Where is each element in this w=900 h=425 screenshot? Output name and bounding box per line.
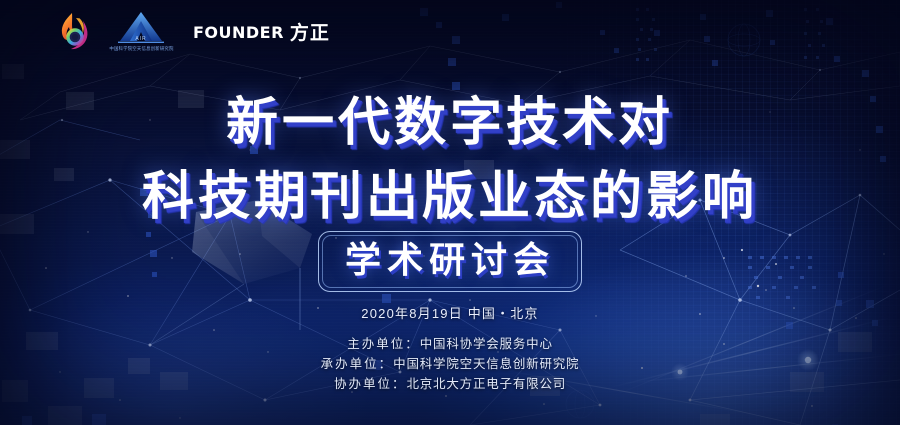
- organizer-undertaker-name: 中国科学院空天信息创新研究院: [393, 357, 579, 371]
- organizer-coorganizer-label: 协办单位：: [334, 377, 407, 391]
- organizer-coorganizer: 协办单位：北京北大方正电子有限公司: [334, 375, 566, 393]
- poster-title: 新一代数字技术对 科技期刊出版业态的影响: [0, 86, 900, 234]
- air-logo-caption: 中国科学院空天信息创新研究院: [109, 46, 173, 52]
- founder-logo-cn: 方正: [290, 18, 330, 45]
- organizer-undertaker: 承办单位：中国科学院空天信息创新研究院: [321, 355, 580, 373]
- logo-bar: AIR 中国科学院空天信息创新研究院 FOUNDER 方正: [52, 9, 330, 53]
- subtitle-badge-label: 学术研讨会: [345, 237, 555, 283]
- svg-text:AIR: AIR: [136, 36, 147, 42]
- subtitle-badge: 学术研讨会: [318, 231, 582, 292]
- air-cas-logo-icon: AIR 中国科学院空天信息创新研究院: [110, 10, 173, 52]
- founder-logo: FOUNDER 方正: [193, 18, 330, 45]
- organizer-host: 主办单位：中国科协学会服务中心: [347, 335, 553, 353]
- date-location: 2020年8月19日 中国・北京: [0, 303, 900, 322]
- poster-banner: AIR 中国科学院空天信息创新研究院 FOUNDER 方正 新一代数字技术对 科…: [0, 0, 900, 425]
- organizer-undertaker-label: 承办单位：: [321, 357, 394, 371]
- cast-flame-logo-icon: [52, 9, 96, 53]
- poster-title-line2: 科技期刊出版业态的影响: [0, 160, 900, 234]
- poster-title-line1: 新一代数字技术对: [0, 86, 900, 160]
- organizer-coorganizer-name: 北京北大方正电子有限公司: [406, 377, 566, 391]
- organizer-host-label: 主办单位：: [347, 337, 420, 351]
- subtitle-badge-wrap: 学术研讨会: [0, 231, 900, 292]
- founder-logo-en: FOUNDER: [193, 18, 284, 44]
- organizer-host-name: 中国科协学会服务中心: [420, 337, 553, 351]
- organizer-list: 主办单位：中国科协学会服务中心 承办单位：中国科学院空天信息创新研究院 协办单位…: [0, 335, 900, 393]
